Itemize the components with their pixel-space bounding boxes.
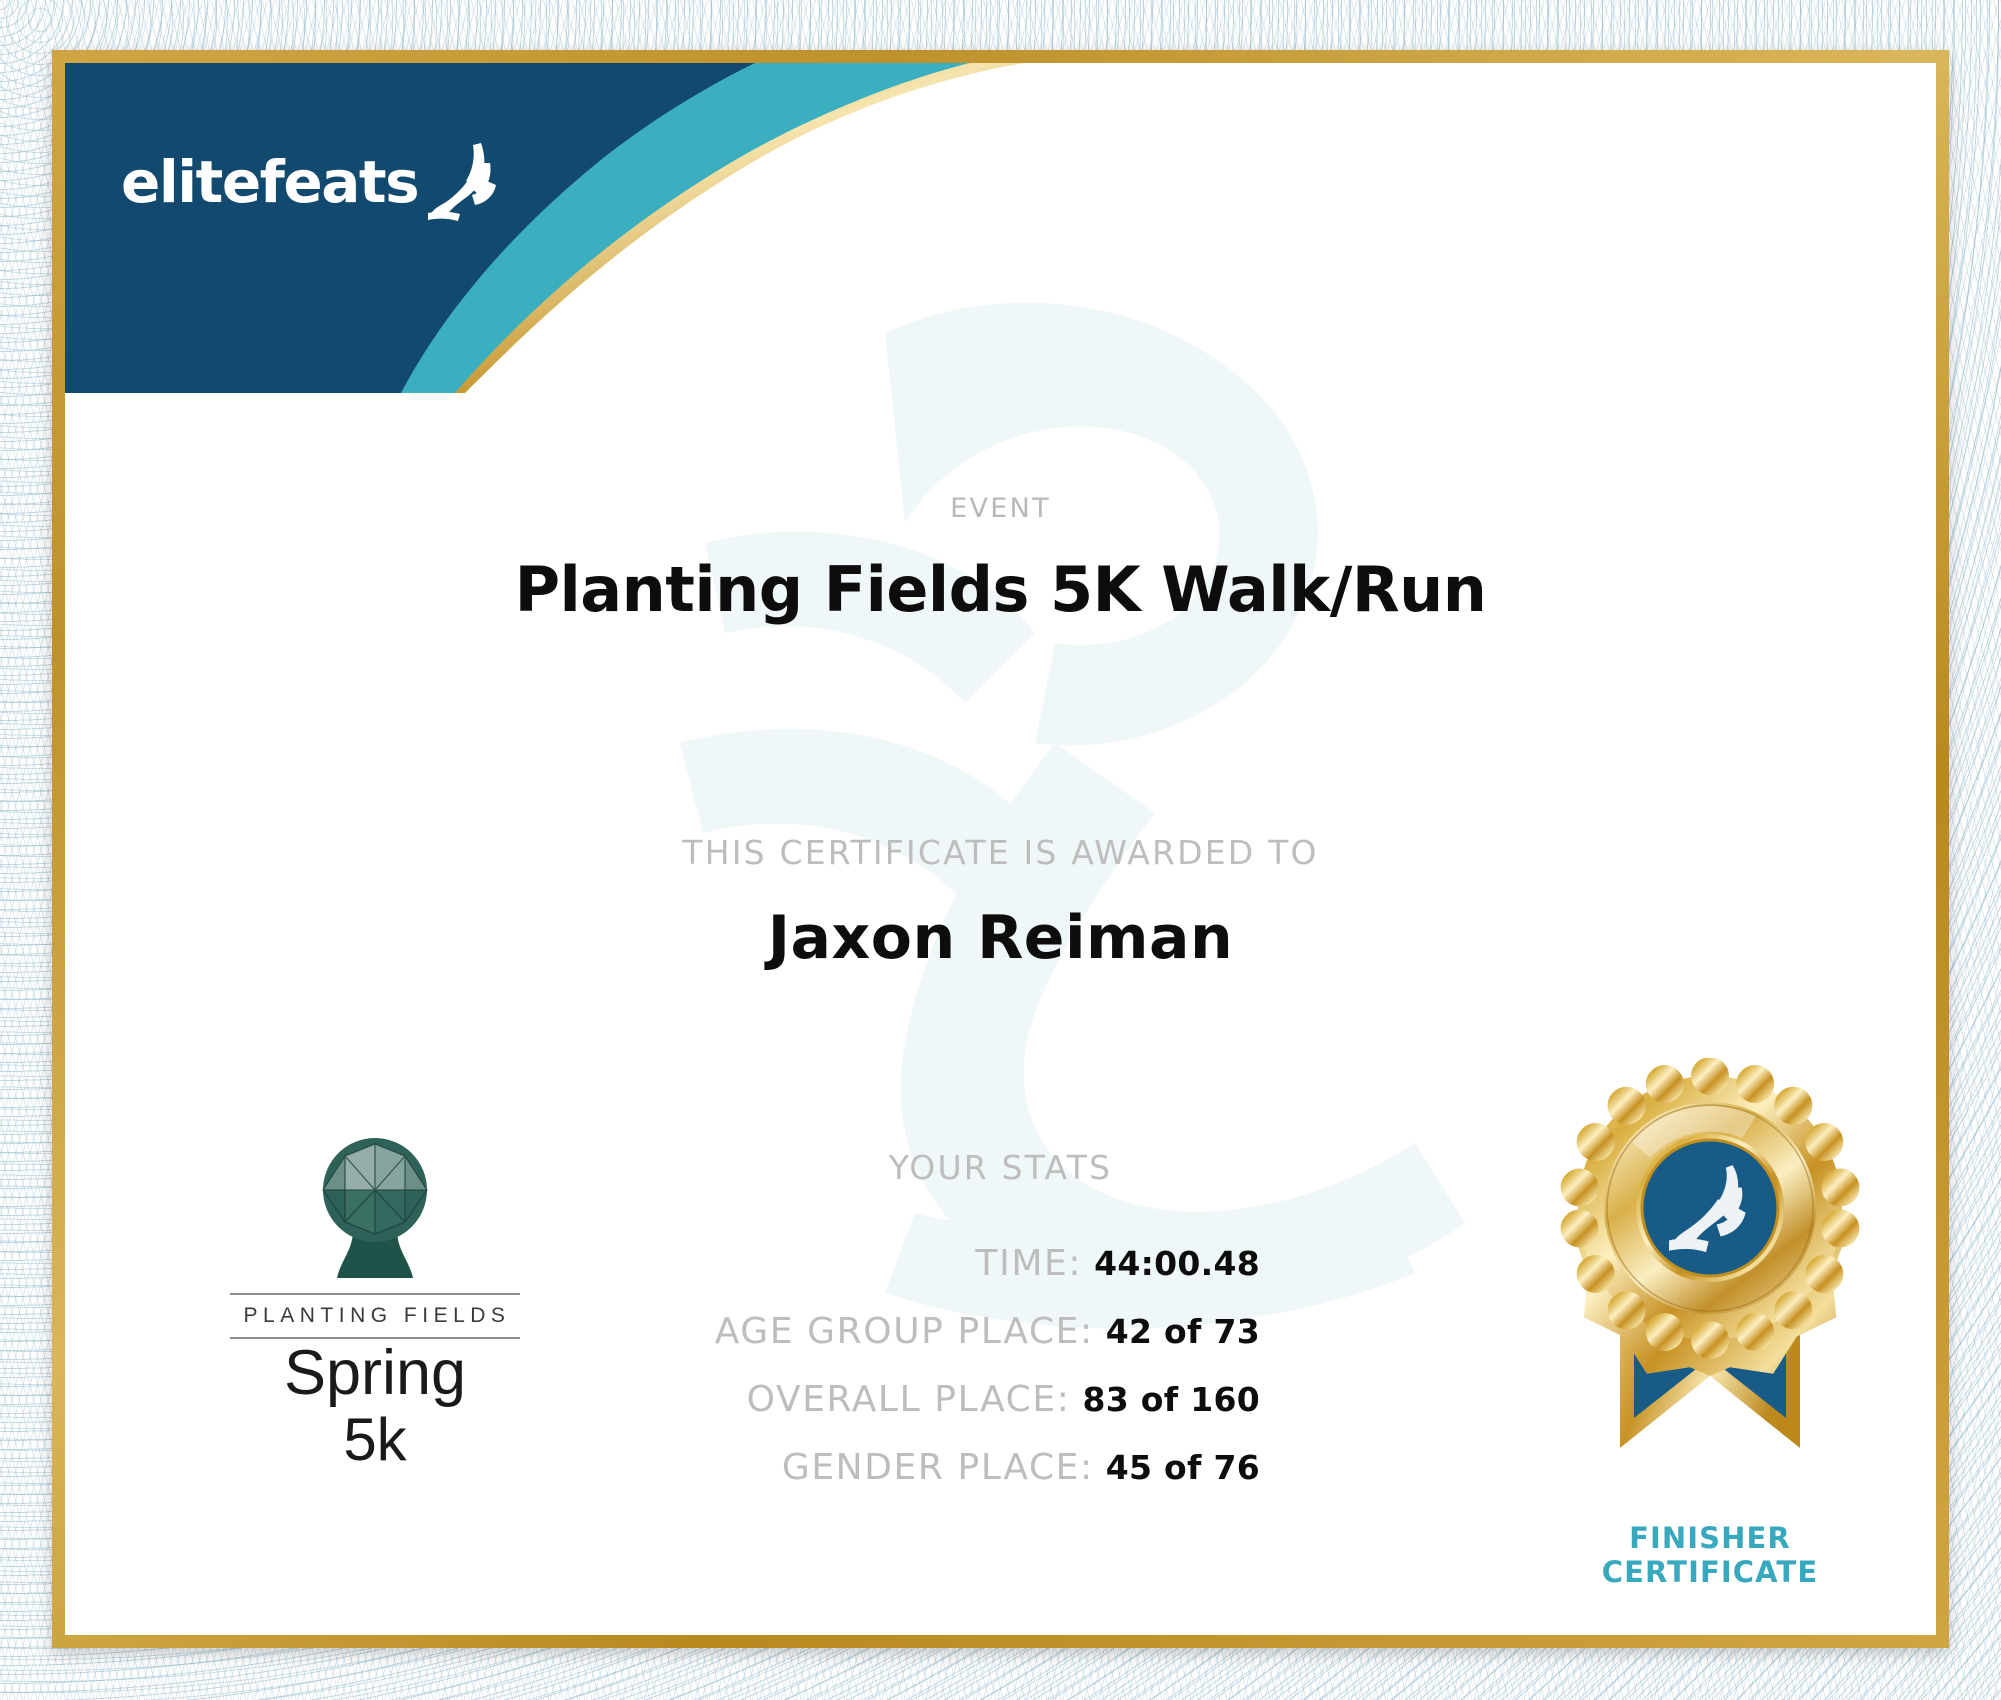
geodesic-dome-tree-icon (230, 1138, 520, 1288)
brand-wordmark: elitefeats (121, 153, 418, 211)
stat-key: GENDER PLACE: (782, 1447, 1094, 1488)
winged-foot-icon (424, 141, 502, 223)
header-corner-graphic (65, 63, 1025, 393)
awarded-to-label: THIS CERTIFICATE IS AWARDED TO (65, 833, 1936, 872)
gold-frame: elitefeats EVENT Planting Fields 5K Walk… (52, 50, 1949, 1648)
stat-key: AGE GROUP PLACE: (715, 1311, 1094, 1352)
recipient-name: Jaxon Reiman (65, 903, 1936, 973)
medal-caption-line2: CERTIFICATE (1560, 1555, 1860, 1589)
stat-value: 44:00.48 (1094, 1244, 1260, 1283)
event-title: Planting Fields 5K Walk/Run (65, 553, 1936, 626)
brand-logo: elitefeats (121, 141, 502, 223)
event-logo: PLANTING FIELDS Spring 5k (230, 1138, 520, 1473)
certificate-body: elitefeats EVENT Planting Fields 5K Walk… (65, 63, 1936, 1635)
finisher-medal: 2022 (1560, 1058, 1860, 1589)
stat-value: 42 of 73 (1106, 1312, 1260, 1351)
event-logo-line1: Spring (230, 1339, 520, 1407)
stat-key: TIME: (976, 1243, 1083, 1284)
medal-caption-line1: FINISHER (1560, 1521, 1860, 1555)
event-logo-line2: 5k (230, 1407, 520, 1473)
stat-value: 45 of 76 (1106, 1448, 1260, 1487)
certificate-page: elitefeats EVENT Planting Fields 5K Walk… (0, 0, 2001, 1700)
stat-key: OVERALL PLACE: (747, 1379, 1071, 1420)
medal-caption: FINISHER CERTIFICATE (1560, 1521, 1860, 1589)
stat-value: 83 of 160 (1082, 1380, 1260, 1419)
event-label: EVENT (65, 493, 1936, 524)
event-logo-name: PLANTING FIELDS (230, 1295, 520, 1337)
winged-foot-medal-icon: 2022 (1560, 1058, 1860, 1508)
